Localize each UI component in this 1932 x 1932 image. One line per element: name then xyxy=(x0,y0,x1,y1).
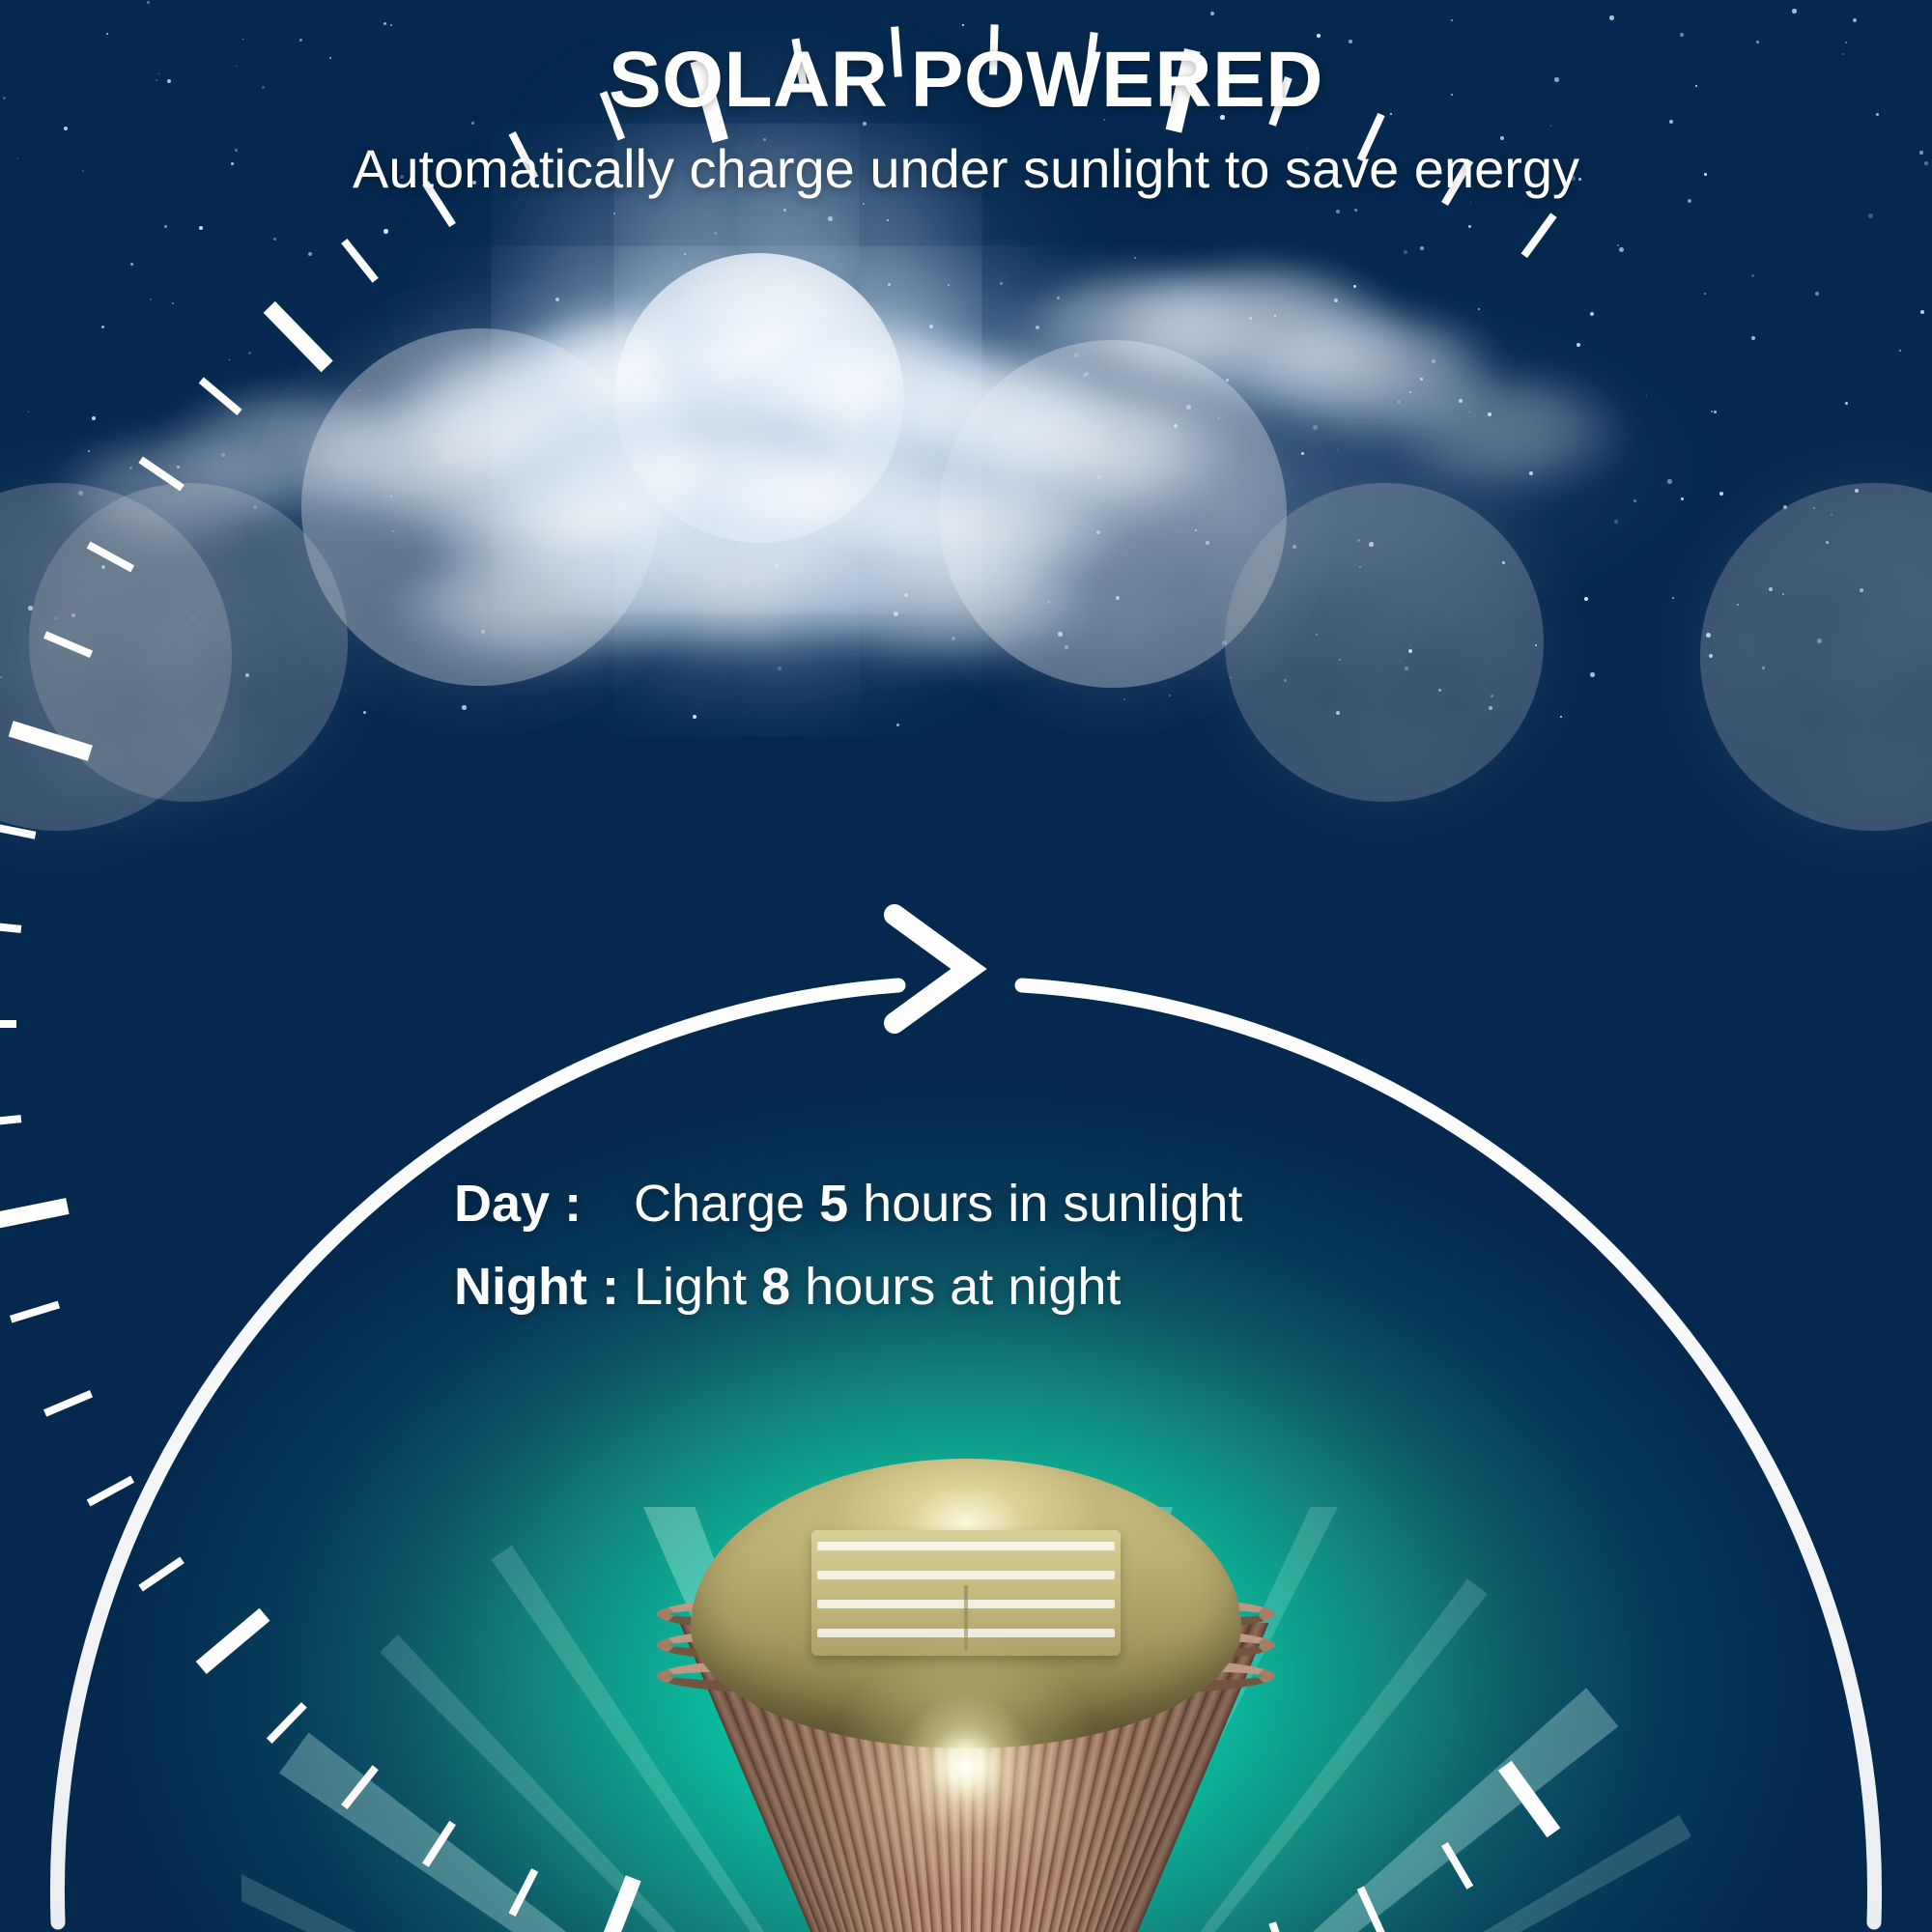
dial-tick xyxy=(201,381,240,412)
star xyxy=(1614,520,1618,524)
star xyxy=(1667,479,1672,484)
star xyxy=(1420,246,1424,250)
star xyxy=(1815,292,1819,296)
star xyxy=(693,715,696,719)
star xyxy=(1845,402,1848,405)
star xyxy=(714,232,717,235)
spec-list: Day : Charge 5 hours in sunlight Night :… xyxy=(454,1174,1517,1340)
star xyxy=(164,225,167,228)
star xyxy=(1334,298,1338,302)
star xyxy=(1590,672,1595,677)
star xyxy=(1451,19,1453,21)
star xyxy=(1478,308,1480,310)
star xyxy=(1619,247,1624,252)
spec-value-day: 5 xyxy=(819,1175,848,1233)
star xyxy=(1792,9,1797,14)
star xyxy=(613,213,615,214)
star xyxy=(896,724,899,726)
star xyxy=(799,231,800,232)
star xyxy=(1920,310,1924,314)
spec-label-day: Day : xyxy=(454,1174,634,1234)
dial-tick xyxy=(0,1207,68,1223)
spec-row-night: Night : Light 8 hours at night xyxy=(454,1257,1517,1317)
star xyxy=(384,229,388,234)
star xyxy=(1468,225,1471,228)
star xyxy=(1432,359,1435,363)
star xyxy=(1353,285,1356,288)
star xyxy=(894,611,898,616)
spec-row-day: Day : Charge 5 hours in sunlight xyxy=(454,1174,1517,1234)
star xyxy=(1617,244,1619,246)
star xyxy=(1398,401,1400,403)
star xyxy=(64,127,68,130)
star xyxy=(1409,391,1411,393)
star xyxy=(1577,343,1580,347)
star xyxy=(28,412,29,412)
dial-tick xyxy=(1505,1766,1554,1833)
moon-far-right xyxy=(1700,483,1932,831)
star xyxy=(1714,411,1717,413)
star xyxy=(1584,597,1588,601)
star xyxy=(150,298,152,300)
star xyxy=(828,216,833,221)
moon-full-center xyxy=(614,253,904,543)
page-title: SOLAR POWERED xyxy=(0,35,1932,126)
star xyxy=(308,252,312,256)
star xyxy=(1470,202,1471,203)
star xyxy=(1704,293,1706,295)
dial-tick xyxy=(425,1823,452,1865)
star xyxy=(948,284,950,286)
star xyxy=(101,326,104,328)
star xyxy=(390,24,392,26)
solar-dome-top xyxy=(691,1459,1241,1748)
solar-cell-panel xyxy=(811,1530,1121,1656)
dial-tick xyxy=(344,241,375,281)
star xyxy=(1868,213,1873,218)
star xyxy=(1210,12,1214,15)
star xyxy=(929,325,933,328)
star xyxy=(1404,250,1407,254)
star xyxy=(1681,497,1684,500)
star xyxy=(1488,412,1492,416)
dial-tick xyxy=(0,924,21,929)
star xyxy=(863,203,865,205)
star xyxy=(1249,317,1252,320)
star xyxy=(1529,471,1533,475)
star xyxy=(1751,336,1755,340)
star xyxy=(147,1,150,4)
dial-tick xyxy=(11,1304,59,1319)
star xyxy=(1459,399,1463,403)
star xyxy=(1468,412,1469,412)
star xyxy=(1609,15,1614,20)
star xyxy=(887,219,889,221)
star xyxy=(783,209,786,212)
star xyxy=(1590,312,1594,316)
star xyxy=(384,22,386,25)
star xyxy=(1134,257,1136,259)
star xyxy=(248,352,251,355)
star xyxy=(778,667,781,670)
star xyxy=(1646,395,1647,396)
star xyxy=(1336,210,1340,213)
dial-tick xyxy=(89,1479,133,1503)
dial-tick xyxy=(201,1614,265,1667)
star xyxy=(273,238,276,241)
star xyxy=(1751,274,1754,277)
star xyxy=(92,416,96,420)
dial-tick xyxy=(45,1394,92,1413)
dial-tick xyxy=(1524,215,1554,256)
moon-left-inner xyxy=(301,328,659,686)
star xyxy=(229,359,230,360)
solar-powered-infographic: SOLAR POWERED Automatically charge under… xyxy=(0,0,1932,1932)
solar-lantern xyxy=(483,1430,1449,1932)
dial-tick xyxy=(270,1705,304,1741)
star xyxy=(1853,18,1857,22)
spec-text-night: Light 8 hours at night xyxy=(634,1257,1121,1317)
star xyxy=(1354,209,1357,212)
moon-right-outer xyxy=(1225,483,1544,802)
clockwise-arrow-head-icon xyxy=(895,915,969,1023)
star xyxy=(1000,282,1003,285)
dial-tick xyxy=(0,1119,21,1123)
star xyxy=(1274,315,1276,317)
star xyxy=(888,283,891,286)
page-subtitle: Automatically charge under sunlight to s… xyxy=(0,137,1932,200)
dial-tick xyxy=(344,1768,375,1807)
spec-text-day: Charge 5 hours in sunlight xyxy=(634,1174,1242,1234)
spec-value-night: 8 xyxy=(761,1258,790,1316)
star xyxy=(684,253,686,255)
star xyxy=(1550,126,1551,127)
star xyxy=(1899,350,1901,352)
star xyxy=(776,564,779,567)
star xyxy=(1634,499,1636,502)
star xyxy=(199,226,203,230)
star xyxy=(1711,411,1713,412)
star xyxy=(172,302,174,304)
star xyxy=(1420,378,1423,381)
star xyxy=(962,24,964,26)
star xyxy=(130,263,133,266)
dial-tick xyxy=(141,1560,183,1588)
spec-label-night: Night : xyxy=(454,1257,634,1317)
